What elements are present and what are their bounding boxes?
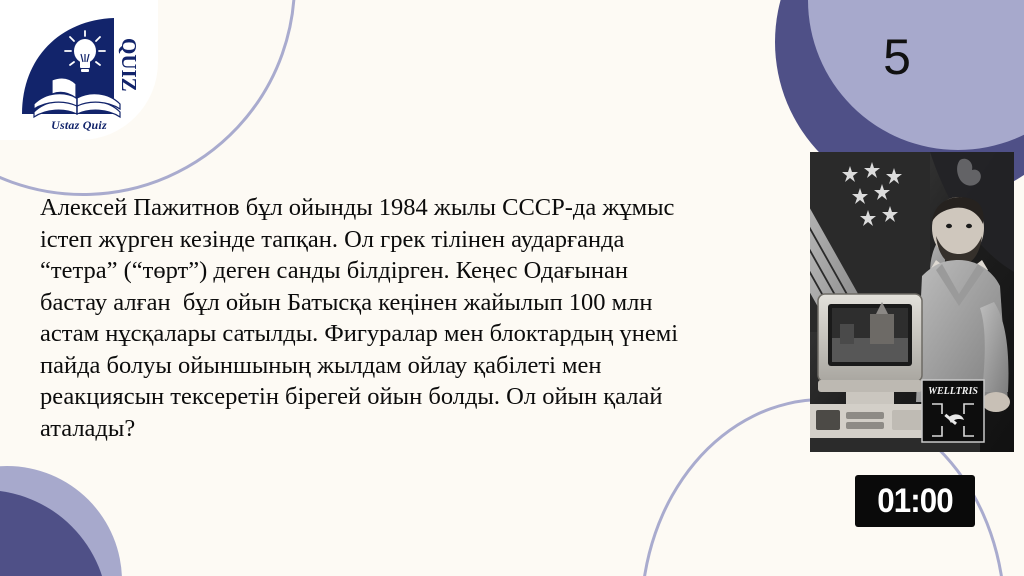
- timer-value: 01:00: [877, 482, 952, 521]
- welltris-game-box: WELLTRIS: [922, 380, 984, 442]
- decor-corner-dark: [0, 490, 108, 576]
- pajitnov-photo-illustration: WELLTRIS: [810, 152, 1014, 452]
- decor-corner-light: [0, 466, 122, 576]
- slide-number: 5: [862, 24, 932, 90]
- vintage-monitor: [818, 294, 922, 404]
- countdown-timer: 01:00: [855, 475, 975, 527]
- logo-caption: Ustaz Quiz: [14, 118, 144, 133]
- welltris-label: WELLTRIS: [928, 386, 978, 397]
- brand-logo-card: QUIZ Ustaz Quiz: [0, 0, 158, 140]
- logo-quiz-word: QUIZ: [117, 38, 141, 92]
- question-text: Алексей Пажитнов бұл ойынды 1984 жылы СС…: [40, 192, 680, 444]
- brand-logo: QUIZ Ustaz Quiz: [14, 14, 144, 132]
- quiz-slide: 5: [0, 0, 1024, 576]
- question-photo: WELLTRIS: [810, 152, 1014, 452]
- ustaz-quiz-logo-icon: QUIZ: [14, 14, 144, 132]
